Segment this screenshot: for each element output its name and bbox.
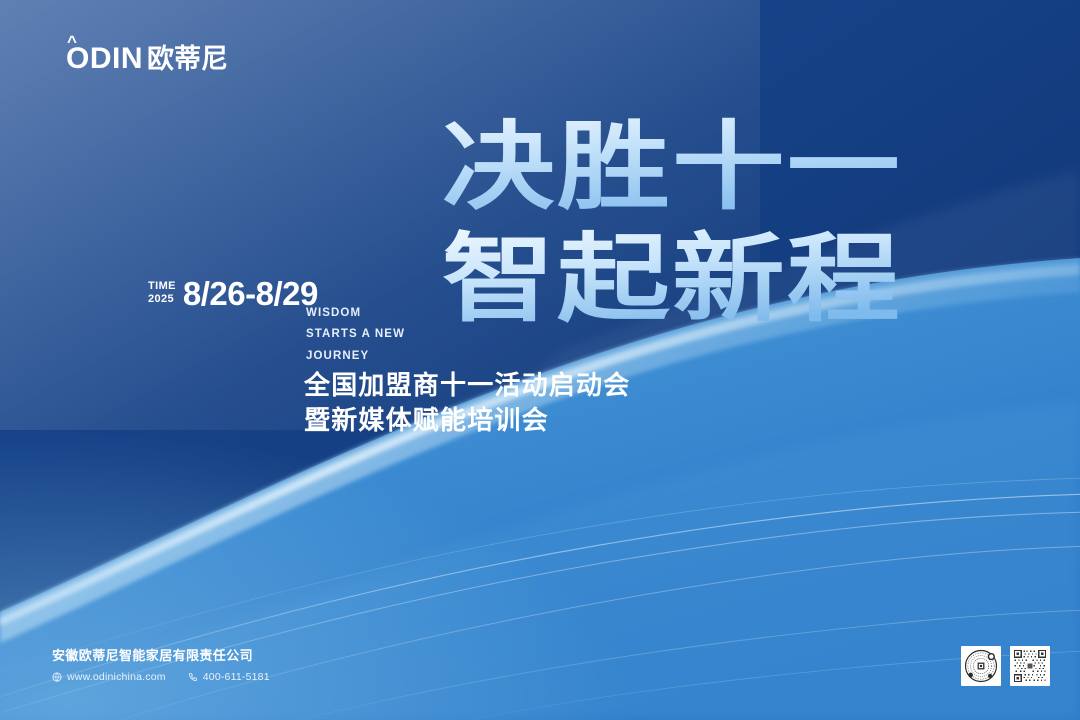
website-url: www.odinichina.com	[67, 671, 166, 683]
phone-number: 400-611-5181	[203, 671, 270, 683]
subtitle-line2: 暨新媒体赋能培训会	[304, 403, 630, 438]
event-poster: ^ODIN 欧蒂尼 决胜十一 智起新程 TI	[0, 0, 1080, 720]
footer: 安徽欧蒂尼智能家居有限责任公司 www.odinichina.com	[52, 648, 270, 683]
company-name: 安徽欧蒂尼智能家居有限责任公司	[52, 648, 270, 664]
tagline-line1: WISDOM	[306, 303, 405, 324]
circumflex-accent-icon: ^	[67, 33, 77, 50]
event-subtitle: 全国加盟商十一活动启动会 暨新媒体赋能培训会	[304, 368, 630, 438]
globe-icon	[52, 672, 62, 682]
phone-contact: 400-611-5181	[188, 671, 270, 683]
event-date-range: 8/26-8/29	[183, 277, 318, 310]
brand-logo-din: DIN	[90, 42, 143, 75]
main-title-line2: 智起新程	[442, 222, 902, 335]
background-artwork	[0, 0, 1080, 720]
qr-code-square[interactable]	[1010, 646, 1050, 686]
date-label-year: 2025	[148, 293, 176, 306]
event-date: TIME 2025 8/26-8/29	[148, 277, 318, 310]
subtitle-line1: 全国加盟商十一活动启动会	[304, 368, 630, 403]
brand-logo-chinese: 欧蒂尼	[147, 46, 228, 73]
brand-logo: ^ODIN 欧蒂尼	[66, 44, 228, 74]
event-date-label: TIME 2025	[148, 280, 176, 310]
qr-code-round[interactable]	[961, 646, 1001, 686]
phone-icon	[188, 672, 198, 682]
contact-info: www.odinichina.com 400-611-5181	[52, 671, 270, 683]
website-contact: www.odinichina.com	[52, 671, 166, 683]
main-title: 决胜十一 智起新程	[440, 112, 910, 342]
brand-logo-latin: ^ODIN	[66, 44, 143, 74]
date-label-time: TIME	[148, 280, 176, 293]
qr-code-group	[961, 646, 1050, 686]
english-tagline: WISDOM STARTS A NEW JOURNEY	[306, 303, 405, 367]
tagline-line3: JOURNEY	[306, 346, 405, 367]
main-title-line1: 决胜十一	[442, 112, 902, 223]
tagline-line2: STARTS A NEW	[306, 324, 405, 345]
